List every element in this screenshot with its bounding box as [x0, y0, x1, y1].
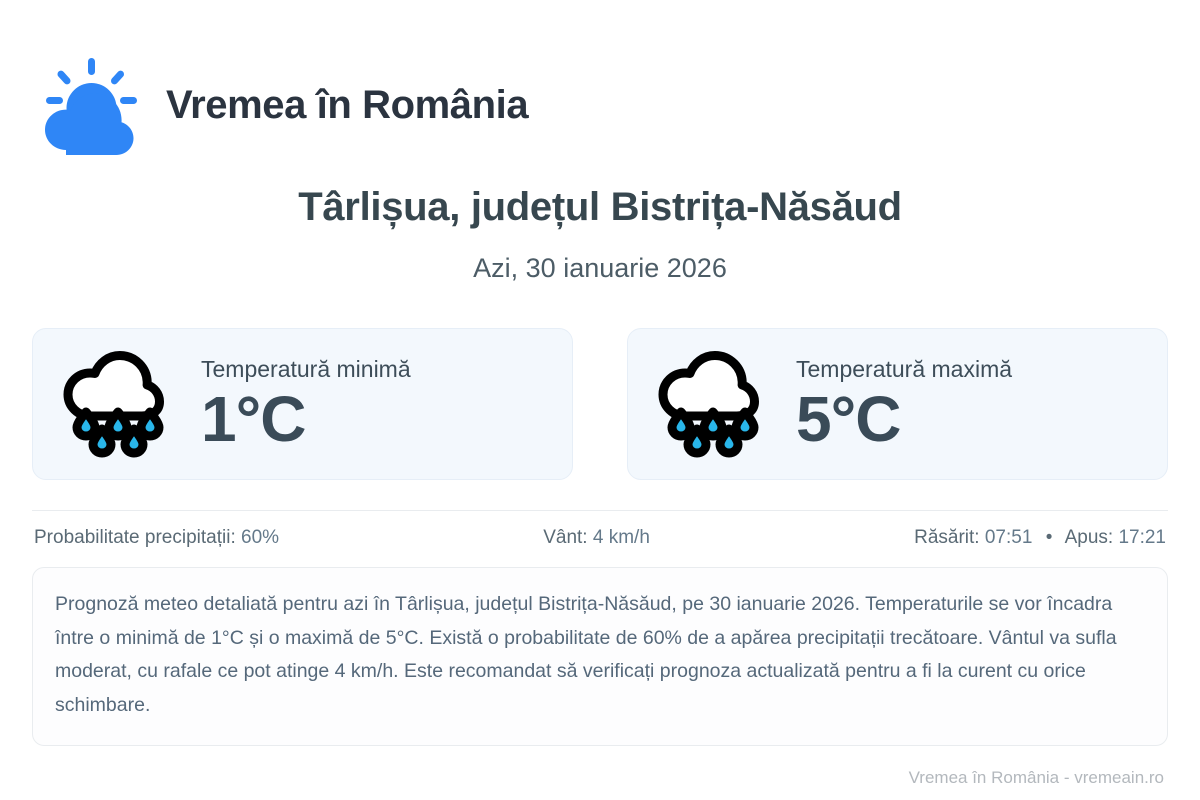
- min-temperature-value: 1°C: [201, 386, 411, 453]
- wind-stat: Vânt: 4 km/h: [279, 528, 914, 547]
- precipitation-stat: Probabilitate precipitații: 60%: [34, 528, 279, 547]
- forecast-description-text: Prognoză meteo detaliată pentru azi în T…: [55, 588, 1141, 722]
- max-temperature-card: Temperatură maximă 5°C: [627, 328, 1168, 480]
- wind-value: 4 km/h: [593, 527, 650, 548]
- brand-name: Vremea în România: [166, 84, 528, 127]
- stat-separator: •: [1038, 527, 1061, 548]
- forecast-description-box: Prognoză meteo detaliată pentru azi în T…: [32, 567, 1168, 745]
- site-header: Vremea în România: [0, 0, 1200, 160]
- sun-times-stat: Răsărit: 07:51 • Apus: 17:21: [914, 528, 1166, 547]
- max-temperature-label: Temperatură maximă: [796, 357, 1012, 382]
- weather-page: Vremea în România Târlișua, județul Bist…: [0, 0, 1200, 800]
- sunset-label: Apus:: [1065, 527, 1114, 548]
- max-temperature-body: Temperatură maximă 5°C: [796, 355, 1012, 453]
- footer-credit: Vremea în România - vremeain.ro: [909, 768, 1164, 788]
- page-title: Târlișua, județul Bistrița-Năsăud: [40, 184, 1160, 230]
- wind-label: Vânt:: [543, 527, 587, 548]
- stats-row: Probabilitate precipitații: 60% Vânt: 4 …: [0, 511, 1200, 563]
- min-temperature-label: Temperatură minimă: [201, 357, 411, 382]
- sunrise-label: Răsărit:: [914, 527, 979, 548]
- sun-behind-cloud-icon: [38, 56, 144, 156]
- temperature-cards: Temperatură minimă 1°C Temp: [0, 284, 1200, 480]
- min-temperature-body: Temperatură minimă 1°C: [201, 355, 411, 453]
- cloud-rain-icon: [59, 348, 177, 460]
- title-block: Târlișua, județul Bistrița-Năsăud Azi, 3…: [0, 160, 1200, 284]
- precipitation-value: 60%: [241, 527, 279, 548]
- page-subtitle: Azi, 30 ianuarie 2026: [40, 252, 1160, 284]
- precipitation-label: Probabilitate precipitații:: [34, 527, 236, 548]
- min-temperature-card: Temperatură minimă 1°C: [32, 328, 573, 480]
- cloud-rain-icon: [654, 348, 772, 460]
- sunrise-value: 07:51: [985, 527, 1033, 548]
- sunset-value: 17:21: [1118, 527, 1166, 548]
- max-temperature-value: 5°C: [796, 386, 1012, 453]
